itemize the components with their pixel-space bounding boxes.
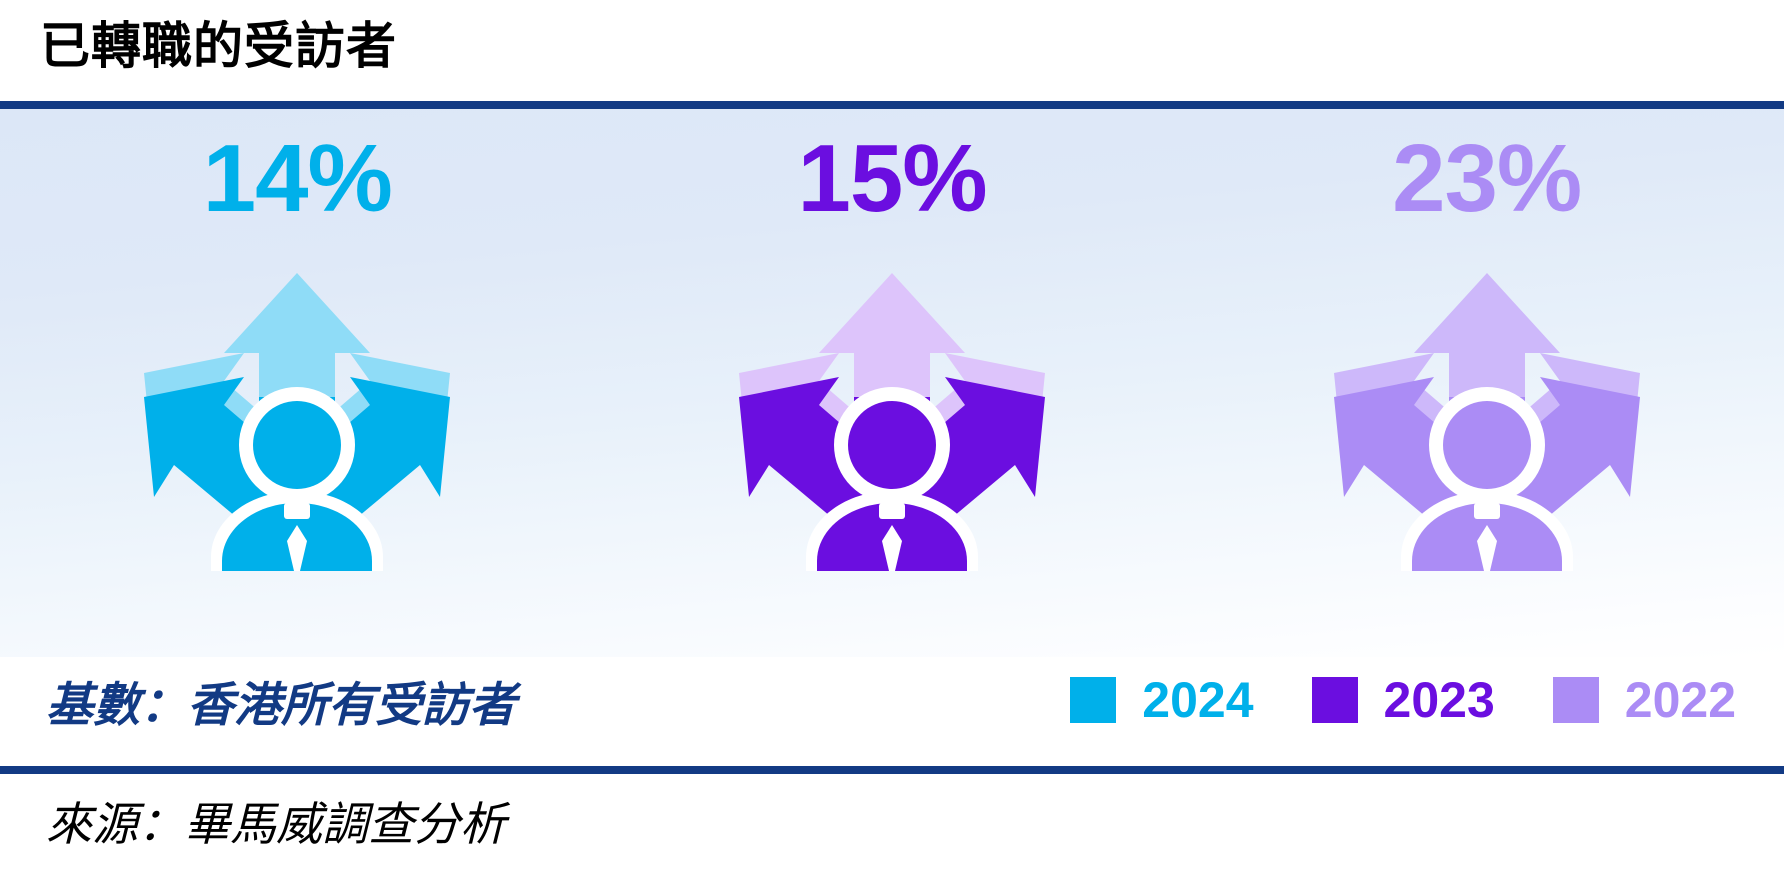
divider-bottom [0, 766, 1784, 774]
infographic-page: 已轉職的受訪者 14% [0, 0, 1784, 878]
person-head [253, 401, 341, 489]
icon-svg-2023 [727, 245, 1057, 575]
legend-label-2024: 2024 [1142, 675, 1253, 725]
legend-swatch-2023 [1312, 677, 1358, 723]
legend-label-2023: 2023 [1384, 675, 1495, 725]
person-three-arrows-icon [1322, 245, 1652, 580]
legend-swatch-2022 [1553, 677, 1599, 723]
percent-value-2022: 23% [1392, 131, 1581, 227]
legend-item-2024[interactable]: 2024 [1070, 675, 1253, 725]
legend-item-2022[interactable]: 2022 [1553, 675, 1736, 725]
source-note: 來源：畢馬威調查分析 [46, 788, 506, 854]
person-head [1443, 401, 1531, 489]
percent-value-2024: 14% [203, 131, 392, 227]
icon-svg-2022 [1322, 245, 1652, 575]
legend-swatch-2024 [1070, 677, 1116, 723]
divider-top [0, 101, 1784, 109]
chart-columns: 14% [0, 109, 1784, 657]
legend-item-2023[interactable]: 2023 [1312, 675, 1495, 725]
page-title: 已轉職的受訪者 [40, 18, 397, 76]
chart-column-2024: 14% [0, 109, 595, 657]
chart-column-2023: 15% [595, 109, 1190, 657]
legend-label-2022: 2022 [1625, 675, 1736, 725]
person-three-arrows-icon [132, 245, 462, 580]
icon-svg-2024 [132, 245, 462, 575]
person-three-arrows-icon [727, 245, 1057, 580]
person-collar [1474, 503, 1500, 519]
person-collar [284, 503, 310, 519]
chart-legend: 2024 2023 2022 [0, 660, 1784, 740]
percent-value-2023: 15% [797, 131, 986, 227]
person-head [848, 401, 936, 489]
chart-column-2022: 23% [1189, 109, 1784, 657]
person-collar [879, 503, 905, 519]
